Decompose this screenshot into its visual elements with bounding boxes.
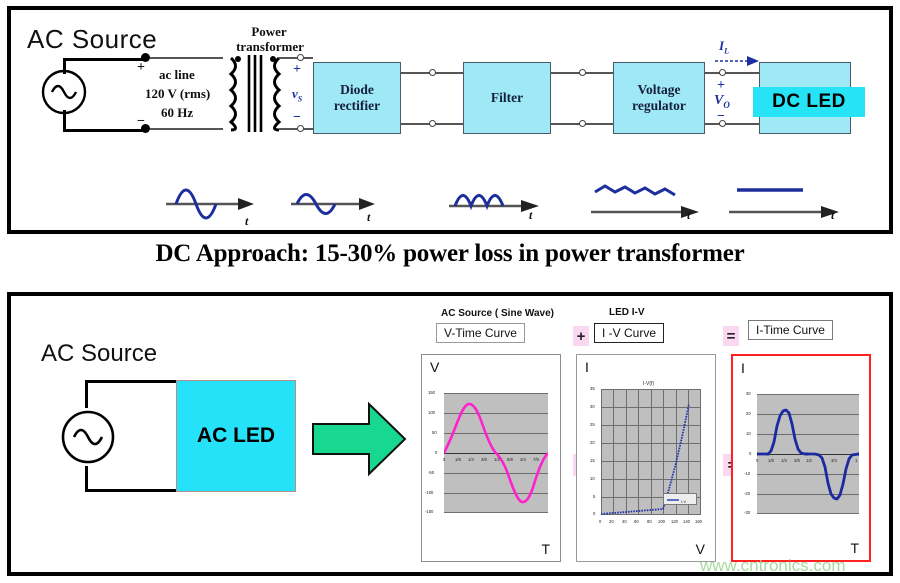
transformer-label-line2: transformer <box>210 39 330 55</box>
chart1-plot-area: 150 100 50 0 -50 -100 -150 0 1/8 1/4 3/8… <box>444 393 548 513</box>
ac-line-label: ac line <box>159 67 195 83</box>
header-box-i-time[interactable]: I-Time Curve <box>748 320 833 340</box>
watermark: www.cntronics.com <box>700 556 845 576</box>
secondary-lead-bottom <box>279 128 313 130</box>
primary-minus-label: − <box>137 114 145 130</box>
chart-i-time-frame: I T 30 20 10 0 -10 -20 -30 0 <box>731 354 871 562</box>
primary-plus-label: + <box>137 60 145 76</box>
dc-approach-diagram: AC Source + ac line 120 V (rms) 60 Hz − … <box>7 6 893 234</box>
secondary-node-bottom <box>297 125 304 132</box>
secondary-plus-label: + <box>293 62 301 78</box>
dc-led-chip-label: DC LED <box>753 87 865 117</box>
waveform-ac-sine-secondary <box>291 184 377 226</box>
secondary-minus-label: − <box>293 110 301 126</box>
operator-plus-header: + <box>573 326 589 346</box>
node-rect-filter-bottom <box>429 120 436 127</box>
caption-text: DC Approach: 15-30% power loss in power … <box>0 240 900 268</box>
node-filter-reg-bottom <box>579 120 586 127</box>
wire-reg-to-led-bottom <box>705 123 759 125</box>
waveform-ac-sine-primary <box>166 178 256 226</box>
chart2-ylabel: I <box>585 359 589 375</box>
filter-line1: Filter <box>491 90 523 105</box>
secondary-node-top <box>297 54 304 61</box>
ac-led-box[interactable]: AC LED <box>176 380 296 492</box>
secondary-vs-label: vS <box>292 86 302 104</box>
waveform-axis-label-3: t <box>529 208 532 223</box>
il-subscript: L <box>724 47 729 56</box>
green-arrow-icon <box>311 400 407 478</box>
output-voltage-label: VO <box>714 93 730 110</box>
chart2-plot-area: I-V 35 30 25 20 15 10 5 0 0 20 40 60 80 … <box>601 389 701 515</box>
src-wire-top <box>63 58 147 61</box>
ac-source-title-2: AC Source <box>41 340 157 368</box>
svg-text:I-V: I-V <box>681 499 686 504</box>
chart-v-time-frame: V T 150 100 50 0 -50 -100 -150 0 1/8 1/4… <box>421 354 561 562</box>
node-rect-filter-top <box>429 69 436 76</box>
chart3-itime-series <box>757 394 859 514</box>
chart3-xlabel: T <box>850 540 859 556</box>
output-minus-label: − <box>717 109 725 125</box>
waveform-ripple <box>591 180 701 224</box>
header-small-1: AC Source ( Sine Wave) <box>441 308 554 319</box>
ac-source-title: AC Source <box>27 24 157 55</box>
chart2-xlabel: V <box>696 541 705 557</box>
src-wire-bottom <box>63 129 147 132</box>
power-transformer-symbol <box>221 54 291 134</box>
chart3-ylabel: I <box>741 360 745 376</box>
waveform-axis-label-5: t <box>831 208 834 223</box>
ac2-wire-bottom <box>85 489 179 492</box>
diode-rectifier-line1: Diode <box>340 82 374 97</box>
secondary-lead-top <box>279 57 313 59</box>
ac2-wire-top-stub <box>85 380 88 408</box>
voltage-regulator-line1: Voltage <box>638 82 681 97</box>
header-box-i-v[interactable]: I -V Curve <box>594 323 664 343</box>
waveform-axis-label-2: t <box>367 210 370 225</box>
vs-subscript: S <box>298 95 302 104</box>
chart2-legend: I-V <box>663 493 697 505</box>
ac-source-symbol-2 <box>59 406 117 468</box>
frequency-label: 60 Hz <box>161 105 193 121</box>
block-diode-rectifier[interactable]: Dioderectifier <box>313 62 401 134</box>
load-current-label: IL <box>719 38 729 56</box>
block-filter[interactable]: Filter <box>463 62 551 134</box>
voltage-rms-label: 120 V (rms) <box>145 86 210 102</box>
primary-lead-bottom <box>150 128 223 130</box>
voltage-regulator-line2: regulator <box>632 98 686 113</box>
chart3-plot-area: 30 20 10 0 -10 -20 -30 0 1/8 1/4 3/8 1/2… <box>757 394 859 514</box>
chart1-ylabel: V <box>430 359 439 375</box>
chart2-title: I-V(f) <box>643 381 654 387</box>
header-box-v-time[interactable]: V-Time Curve <box>436 323 525 343</box>
waveform-axis-label-4: t <box>687 208 690 223</box>
waveform-dc-flat <box>729 180 841 224</box>
transformer-label-line1: Power <box>224 24 314 40</box>
waveform-rectified <box>449 182 541 224</box>
wire-reg-to-led-top <box>705 72 759 74</box>
operator-equals-header: = <box>723 326 739 346</box>
ac-approach-diagram: AC Source AC LED AC Source ( Sine Wave) … <box>7 292 893 576</box>
header-small-2: LED I-V <box>609 307 645 318</box>
primary-lead-top <box>150 57 223 59</box>
chart1-xlabel: T <box>541 541 550 557</box>
ac2-wire-top <box>85 380 179 383</box>
block-voltage-regulator[interactable]: Voltageregulator <box>613 62 705 134</box>
vo-symbol: V <box>714 93 723 108</box>
output-plus-label: + <box>717 78 725 94</box>
chart-i-v-frame: I V I-V(f) <box>576 354 716 562</box>
node-filter-reg-top <box>579 69 586 76</box>
chart1-sine-series <box>444 393 548 513</box>
waveform-axis-label-1: t <box>245 214 248 229</box>
diode-rectifier-line2: rectifier <box>334 98 380 113</box>
node-output-top <box>719 69 726 76</box>
src-wire-top-stub <box>63 60 66 74</box>
